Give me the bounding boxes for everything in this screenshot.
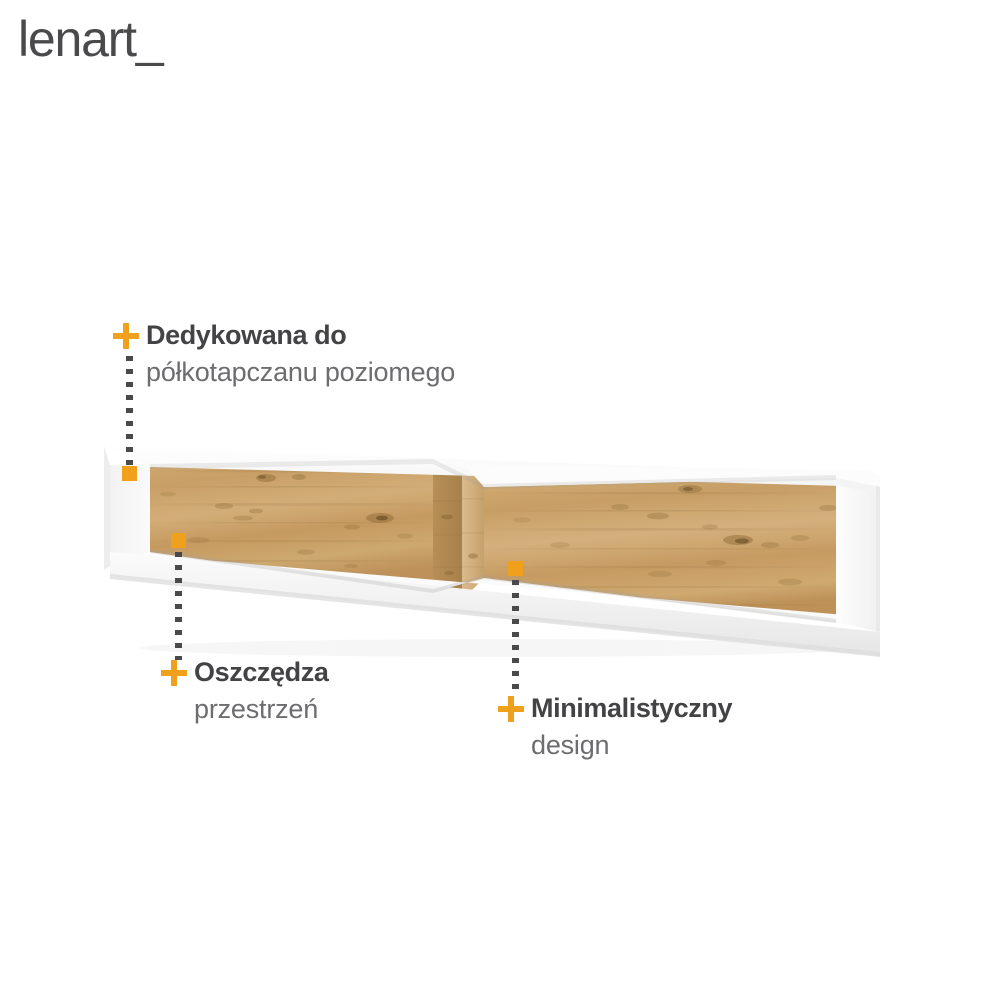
product-image-wall-shelf [0, 0, 1000, 1000]
leader-line-minimalistyczny [512, 580, 519, 696]
marker-center [508, 561, 523, 576]
infographic-canvas: lenart_ [0, 0, 1000, 1000]
callout-minimalistyczny: Minimalistyczny design [497, 691, 732, 763]
brand-logo: lenart_ [18, 14, 162, 64]
plus-icon [112, 322, 140, 350]
callout-minimalistyczny-title: Minimalistyczny [531, 691, 732, 725]
callout-minimalistyczny-head: Minimalistyczny [497, 691, 732, 725]
callout-oszczedza-head: Oszczędza [160, 655, 328, 689]
callout-dedykowana-title: Dedykowana do [146, 318, 346, 352]
callout-oszczedza: Oszczędza przestrzeń [160, 655, 328, 727]
marker-top-left [122, 466, 137, 481]
callout-oszczedza-subtitle: przestrzeń [194, 691, 328, 727]
plus-icon [160, 659, 188, 687]
marker-mid-left [171, 533, 186, 548]
callout-dedykowana-subtitle: półkotapczanu poziomego [146, 354, 455, 390]
callout-minimalistyczny-subtitle: design [531, 727, 732, 763]
leader-line-oszczedza [175, 552, 182, 660]
callout-oszczedza-title: Oszczędza [194, 655, 328, 689]
callout-dedykowana-head: Dedykowana do [112, 318, 455, 352]
plus-icon [497, 695, 525, 723]
callout-dedykowana: Dedykowana do półkotapczanu poziomego [112, 318, 455, 390]
